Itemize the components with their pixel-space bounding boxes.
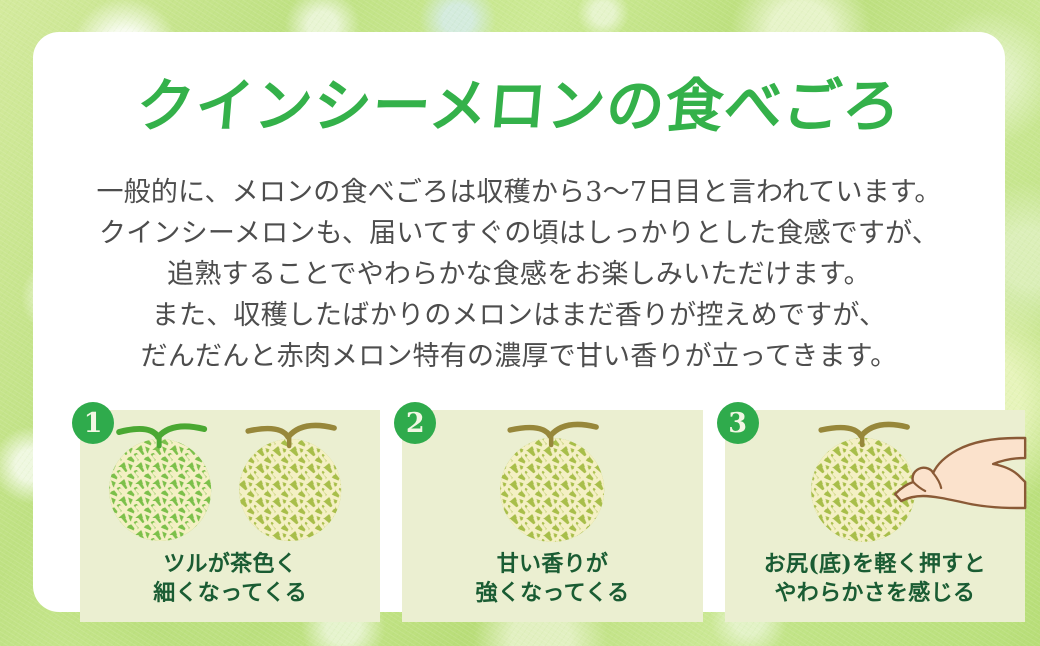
melon-unripe (109, 426, 211, 541)
panel-caption-1: ツルが茶色く 細くなってくる (80, 550, 380, 608)
pointing-hand-icon (895, 438, 1025, 508)
lead-line-4: また、収穫したばかりのメロンはまだ香りが控えめですが、 (33, 295, 1005, 336)
panel-number-badge-3: 3 (717, 402, 759, 444)
panel-caption-2: 甘い香りが 強くなってくる (402, 550, 702, 608)
lead-paragraph: 一般的に、メロンの食べごろは収穫から3〜7日目と言われています。 クインシーメロ… (33, 172, 1005, 377)
lead-line-1: 一般的に、メロンの食べごろは収穫から3〜7日目と言われています。 (33, 172, 1005, 213)
lead-line-2: クインシーメロンも、届いてすぐの頃はしっかりとした食感ですが、 (33, 213, 1005, 254)
panel-caption-2-line1: 甘い香りが (402, 550, 702, 579)
panel-caption-3-line2: やわらかさを感じる (725, 579, 1025, 608)
melon-ripe-center (500, 424, 604, 542)
panel-aroma: 2 (402, 410, 702, 622)
panel-number-badge-1: 1 (72, 402, 114, 444)
page-title: クインシーメロンの食べごろ (30, 77, 1007, 135)
panel-caption-2-line2: 強くなってくる (402, 579, 702, 608)
panel-stem-color: 1 (80, 410, 380, 622)
melon-ripe (239, 425, 341, 541)
panel-caption-1-line1: ツルが茶色く (80, 550, 380, 579)
ripeness-sign-panels: 1 (80, 410, 1025, 622)
panel-caption-3-line1: お尻(底)を軽く押すと (725, 550, 1025, 579)
panel-caption-3: お尻(底)を軽く押すと やわらかさを感じる (725, 550, 1025, 608)
lead-line-3: 追熟することでやわらかな食感をお楽しみいただけます。 (33, 254, 1005, 295)
panel-softness-press: 3 (725, 410, 1025, 622)
lead-line-5: だんだんと赤肉メロン特有の濃厚で甘い香りが立ってきます。 (33, 336, 1005, 377)
illustration-single-melon (402, 416, 702, 544)
poster-stage: クインシーメロンの食べごろ 一般的に、メロンの食べごろは収穫から3〜7日目と言わ… (0, 0, 1040, 646)
illustration-two-melons (80, 416, 380, 544)
white-content-card: クインシーメロンの食べごろ 一般的に、メロンの食べごろは収穫から3〜7日目と言わ… (33, 32, 1005, 612)
illustration-melon-and-hand (725, 416, 1025, 544)
melon-ripe-pressed (811, 424, 915, 542)
panel-caption-1-line2: 細くなってくる (80, 579, 380, 608)
